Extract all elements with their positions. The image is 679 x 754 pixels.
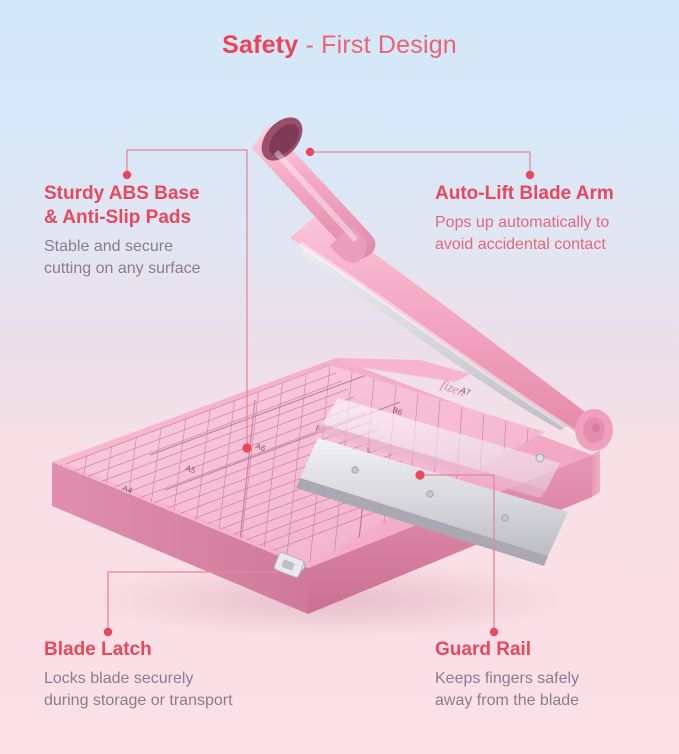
cutting-mat-grid: [34, 281, 528, 616]
svg-text:B6: B6: [391, 405, 404, 417]
dot-guard-target: [415, 470, 424, 479]
guard-rail-edge: [316, 424, 546, 498]
callout-latch-heading: Blade Latch: [44, 638, 314, 662]
connector-latch: [108, 572, 280, 632]
callout-latch-body: Locks blade securely during storage or t…: [44, 668, 314, 712]
callout-sturdy-heading: Sturdy ABS Base & Anti-Slip Pads: [44, 182, 284, 230]
dot-latch-label: [104, 628, 112, 636]
guard-rail: [322, 398, 560, 490]
base-back-lip: [336, 358, 470, 382]
mat-size-labels: A4 A5 A6 B5 B6 A7: [121, 385, 472, 495]
callout-guard-body: Keeps fingers safely away from the blade: [435, 668, 675, 712]
blade-bed: [300, 438, 568, 556]
page-title-rest: - First Design: [298, 31, 457, 59]
handle-rim: [254, 110, 311, 169]
dot-sturdy-label: [123, 171, 131, 179]
page-title-strong: Safety: [222, 31, 298, 59]
base-left-face: [52, 462, 308, 614]
callout-blade-latch: Blade Latch Locks blade securely during …: [44, 638, 314, 712]
product-shadow: [80, 560, 580, 640]
base-right-face: [592, 450, 600, 497]
handle-bore: [263, 118, 305, 161]
callout-sturdy-abs-base: Sturdy ABS Base & Anti-Slip Pads Stable …: [44, 182, 284, 280]
dot-autolift-target: [306, 148, 314, 156]
callout-autolift-heading: Auto-Lift Blade Arm: [435, 182, 671, 206]
svg-text:A4: A4: [121, 483, 134, 495]
base-top-surface: [52, 358, 592, 568]
connector-guard: [424, 475, 494, 632]
callout-guard-heading: Guard Rail: [435, 638, 675, 662]
dot-guard-label: [490, 628, 498, 636]
arm-pivot: [575, 409, 613, 451]
handle-highlight: [276, 152, 356, 240]
svg-text:B5: B5: [314, 423, 327, 435]
base-front-face: [308, 455, 592, 614]
brand-mark: fizen: [439, 377, 467, 400]
connector-autolift: [314, 152, 530, 175]
dot-autolift-label: [526, 171, 534, 179]
blade-bed-edge: [296, 478, 548, 566]
handle-collar: [330, 224, 367, 263]
callout-autolift-body: Pops up automatically to avoid accidenta…: [435, 212, 671, 256]
infographic-page: Safety - First Design: [0, 0, 679, 754]
svg-text:A7: A7: [459, 385, 472, 397]
blade-edge: [300, 226, 585, 430]
svg-text:A6: A6: [254, 441, 267, 453]
page-title: Safety - First Design: [0, 28, 679, 62]
dot-sturdy-target: [242, 443, 251, 452]
cutting-mat: [66, 365, 545, 562]
callout-guard-rail: Guard Rail Keeps fingers safely away fro…: [435, 638, 675, 712]
blade-latch: [274, 552, 305, 578]
blade-arm-highlight: [300, 244, 578, 434]
blade-bed-screws: [295, 454, 544, 571]
callout-auto-lift-blade-arm: Auto-Lift Blade Arm Pops up automaticall…: [435, 182, 671, 256]
svg-text:A5: A5: [184, 463, 197, 475]
callout-sturdy-body: Stable and secure cutting on any surface: [44, 236, 284, 280]
